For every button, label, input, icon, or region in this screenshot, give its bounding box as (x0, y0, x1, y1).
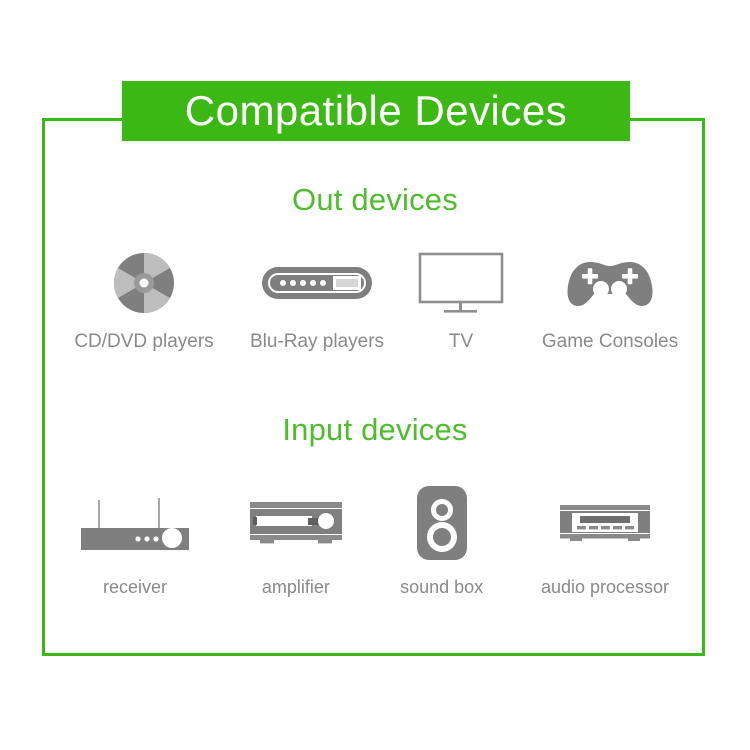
television-icon (418, 245, 504, 321)
device-item-cd-dvd-players: CD/DVD players (60, 245, 228, 353)
device-label: Game Consoles (542, 331, 678, 353)
device-item-sound-box: sound box (382, 485, 502, 598)
device-label: audio processor (541, 577, 669, 598)
device-label: Blu-Ray players (250, 331, 384, 353)
device-item-receiver: receiver (60, 485, 210, 598)
audio-processor-icon (556, 485, 654, 561)
out-devices-row: CD/DVD players Blu-Ray players (60, 245, 690, 353)
device-label: receiver (103, 577, 167, 598)
av-receiver-icon (77, 485, 193, 561)
bluray-player-icon (261, 245, 373, 321)
amplifier-icon (246, 485, 346, 561)
compact-disc-icon (113, 245, 175, 321)
device-label: TV (449, 331, 473, 353)
device-item-audio-processor: audio processor (520, 485, 690, 598)
device-item-amplifier: amplifier (228, 485, 363, 598)
section-heading-out-devices: Out devices (0, 182, 750, 218)
input-devices-row: receiver amplifier (60, 485, 690, 598)
device-label: sound box (400, 577, 483, 598)
game-controller-icon (564, 245, 656, 321)
device-item-game-consoles: Game Consoles (530, 245, 690, 353)
title-banner: Compatible Devices (122, 81, 630, 141)
device-item-tv: TV (406, 245, 516, 353)
device-label: amplifier (262, 577, 330, 598)
speaker-icon (416, 485, 468, 561)
page-title: Compatible Devices (185, 90, 568, 132)
compatible-devices-infographic: Compatible Devices Out devices CD/DVD pl… (0, 0, 750, 750)
section-heading-input-devices: Input devices (0, 412, 750, 448)
device-label: CD/DVD players (74, 331, 213, 353)
device-item-bluray-players: Blu-Ray players (242, 245, 392, 353)
